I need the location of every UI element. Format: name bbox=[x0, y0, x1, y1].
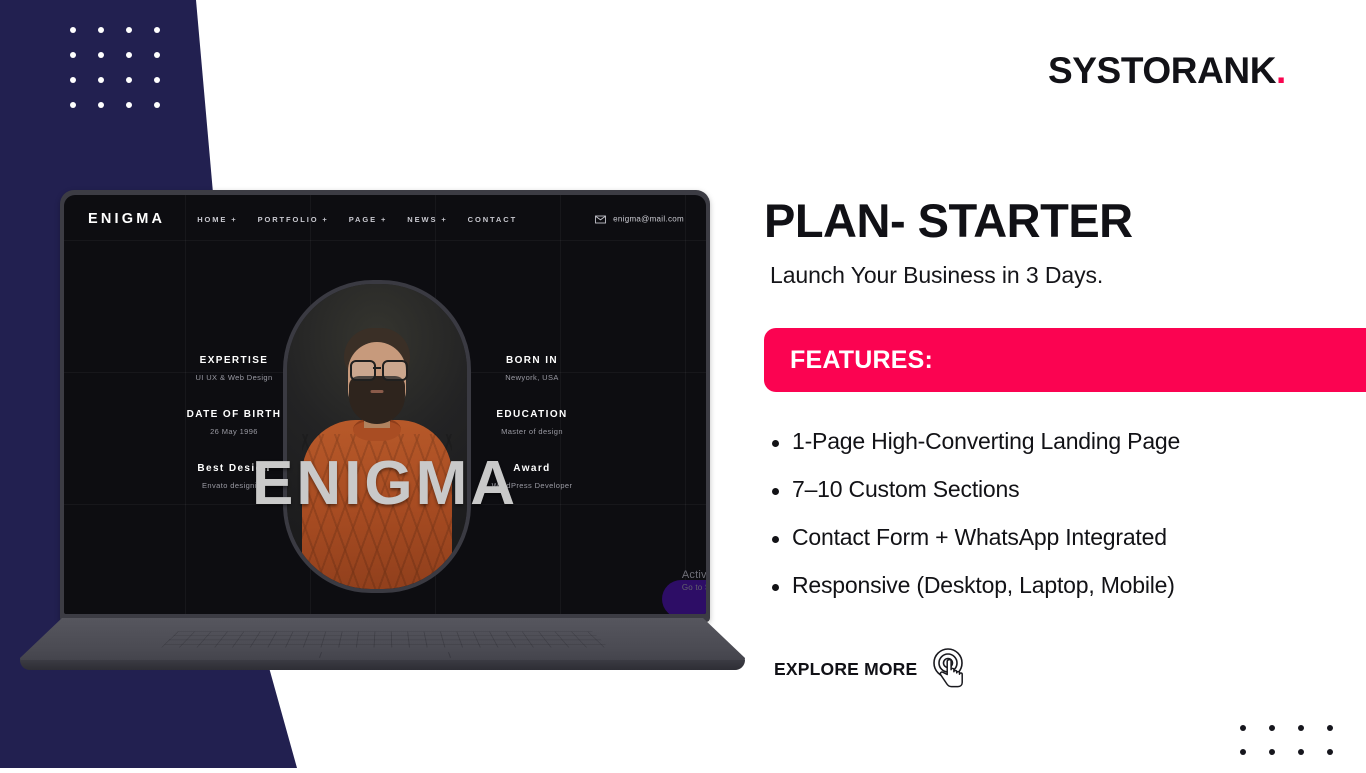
laptop-base-front bbox=[20, 660, 745, 670]
feature-item: Responsive (Desktop, Laptop, Mobile) bbox=[772, 572, 1366, 599]
portrait-beard bbox=[349, 376, 405, 424]
dot bbox=[98, 77, 104, 83]
hero-watermark-text: ENIGMA bbox=[64, 453, 706, 515]
info-subtitle: Master of design bbox=[457, 427, 607, 436]
feature-item-label: Contact Form + WhatsApp Integrated bbox=[792, 524, 1167, 551]
activate-windows-title: Activate Windo bbox=[682, 569, 706, 581]
brand-logo: SYSTORANK. bbox=[1048, 50, 1286, 92]
page-subtitle: Launch Your Business in 3 Days. bbox=[770, 262, 1103, 289]
dot bbox=[126, 52, 132, 58]
portrait-mouth bbox=[371, 390, 384, 393]
nav-link-news[interactable]: NEWS + bbox=[407, 215, 447, 224]
portrait-glasses-bridge bbox=[373, 367, 381, 369]
nav-link-contact[interactable]: CONTACT bbox=[468, 215, 517, 224]
dot bbox=[70, 27, 76, 33]
laptop-trackpad bbox=[319, 652, 451, 658]
feature-item-label: 1-Page High-Converting Landing Page bbox=[792, 428, 1180, 455]
dot bbox=[98, 52, 104, 58]
dot bbox=[126, 102, 132, 108]
nav-link-home[interactable]: HOME + bbox=[197, 215, 237, 224]
dot bbox=[98, 27, 104, 33]
website-email[interactable]: enigma@mail.com bbox=[595, 215, 684, 224]
feature-item: Contact Form + WhatsApp Integrated bbox=[772, 524, 1366, 551]
features-banner: FEATURES: bbox=[764, 328, 1366, 392]
feature-item: 7–10 Custom Sections bbox=[772, 476, 1366, 503]
info-title: DATE OF BIRTH bbox=[159, 409, 309, 420]
info-item: EDUCATION Master of design bbox=[457, 409, 607, 436]
info-subtitle: UI UX & Web Design bbox=[159, 373, 309, 382]
features-list: 1-Page High-Converting Landing Page 7–10… bbox=[772, 428, 1366, 620]
activate-windows-watermark: Activate Windo Go to Settings to bbox=[682, 569, 706, 592]
explore-more-label: EXPLORE MORE bbox=[774, 659, 917, 680]
info-item: DATE OF BIRTH 26 May 1996 bbox=[159, 409, 309, 436]
laptop-lid: ENIGMA HOME + PORTFOLIO + PAGE + NEWS + … bbox=[60, 190, 710, 622]
dot bbox=[98, 102, 104, 108]
bullet-icon bbox=[772, 440, 779, 447]
website-navbar: ENIGMA HOME + PORTFOLIO + PAGE + NEWS + … bbox=[64, 195, 706, 243]
website-logo[interactable]: ENIGMA bbox=[88, 211, 165, 227]
bullet-icon bbox=[772, 536, 779, 543]
dot bbox=[70, 102, 76, 108]
dot bbox=[154, 52, 160, 58]
tap-cursor-icon bbox=[925, 647, 971, 695]
dot-grid-top-left bbox=[70, 27, 182, 127]
laptop-screen: ENIGMA HOME + PORTFOLIO + PAGE + NEWS + … bbox=[64, 195, 706, 614]
activate-windows-subtitle: Go to Settings to bbox=[682, 583, 706, 592]
brand-logo-text: SYSTORANK bbox=[1048, 50, 1276, 91]
info-item: BORN IN Newyork, USA bbox=[457, 355, 607, 382]
dot bbox=[70, 52, 76, 58]
brand-logo-dot: . bbox=[1276, 50, 1286, 91]
info-subtitle: Newyork, USA bbox=[457, 373, 607, 382]
laptop-keyboard bbox=[161, 631, 609, 647]
portrait-photo bbox=[287, 284, 467, 589]
info-subtitle: 26 May 1996 bbox=[159, 427, 309, 436]
feature-item-label: 7–10 Custom Sections bbox=[792, 476, 1019, 503]
envelope-icon bbox=[595, 215, 606, 223]
nav-link-portfolio[interactable]: PORTFOLIO + bbox=[258, 215, 329, 224]
website-nav-menu: HOME + PORTFOLIO + PAGE + NEWS + CONTACT bbox=[197, 215, 517, 224]
feature-item: 1-Page High-Converting Landing Page bbox=[772, 428, 1366, 455]
info-title: BORN IN bbox=[457, 355, 607, 366]
info-title: EDUCATION bbox=[457, 409, 607, 420]
explore-more-button[interactable]: EXPLORE MORE bbox=[774, 643, 971, 695]
laptop-mockup: ENIGMA HOME + PORTFOLIO + PAGE + NEWS + … bbox=[20, 190, 745, 670]
dot bbox=[154, 77, 160, 83]
info-title: EXPERTISE bbox=[159, 355, 309, 366]
info-item: EXPERTISE UI UX & Web Design bbox=[159, 355, 309, 382]
dot bbox=[126, 27, 132, 33]
bullet-icon bbox=[772, 584, 779, 591]
page-title: PLAN- STARTER bbox=[764, 193, 1133, 248]
portrait-glasses-right bbox=[382, 360, 408, 381]
portrait-glasses-left bbox=[350, 360, 376, 381]
nav-link-page[interactable]: PAGE + bbox=[349, 215, 388, 224]
hero-portrait-frame bbox=[283, 280, 471, 593]
bullet-icon bbox=[772, 488, 779, 495]
website-email-text: enigma@mail.com bbox=[613, 215, 684, 224]
features-banner-label: FEATURES: bbox=[790, 346, 933, 375]
dot bbox=[70, 77, 76, 83]
dot bbox=[154, 102, 160, 108]
content-panel: SYSTORANK. PLAN- STARTER Launch Your Bus… bbox=[764, 0, 1366, 768]
dot bbox=[126, 77, 132, 83]
feature-item-label: Responsive (Desktop, Laptop, Mobile) bbox=[792, 572, 1175, 599]
dot bbox=[154, 27, 160, 33]
